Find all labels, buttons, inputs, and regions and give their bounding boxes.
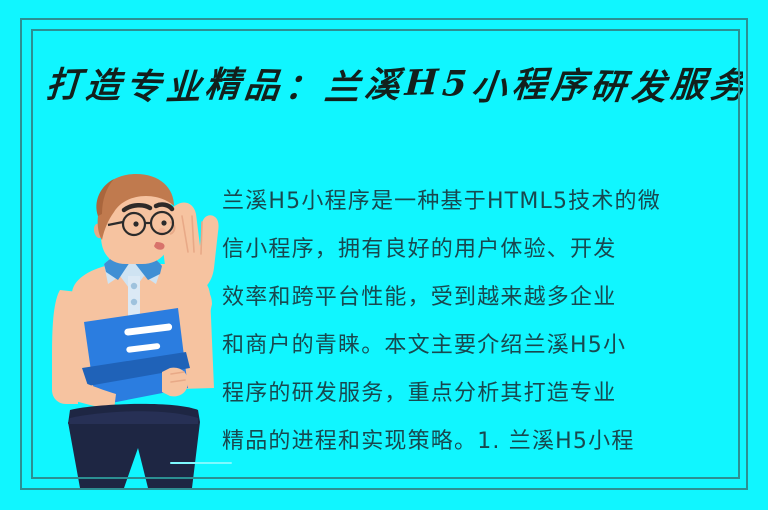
body-line: 兰溪H5小程序是一种基于HTML5技术的微 (222, 178, 743, 226)
page-title-char: 发 (629, 58, 667, 110)
body-line: 信小程序，拥有良好的用户体验、开发 (222, 226, 743, 274)
page-title-char: 小 (469, 58, 510, 110)
page-title-char: 专 (123, 57, 164, 109)
body-line: 程序的研发服务，重点分析其打造专业 (222, 370, 743, 418)
shirt-button-1 (131, 283, 137, 289)
page-title: 打造专业精品：兰溪H5小程序研发服务 (43, 52, 743, 114)
page-title-char: 业 (164, 58, 202, 110)
eye-front (161, 220, 166, 225)
page-title-char: 务 (708, 57, 743, 109)
body-line: 和商户的青睐。本文主要介绍兰溪H5小 (222, 322, 743, 370)
page-title-char: 打 (45, 56, 83, 108)
page-title-char: 程 (510, 56, 548, 108)
page-title-char: 序 (549, 57, 588, 108)
page-title-char: H (403, 62, 439, 104)
eye-back (133, 221, 138, 226)
shirt-button-2 (131, 299, 137, 305)
page-title-char: 造 (84, 57, 123, 108)
poster-canvas: 打造专业精品：兰溪H5小程序研发服务 兰溪H5小程序是一种基于HTML5技术的微… (0, 0, 768, 510)
body-line: 精品的进程和实现策略。1. 兰溪H5小程 (222, 418, 743, 466)
frame-clip-region: 打造专业精品：兰溪H5小程序研发服务 兰溪H5小程序是一种基于HTML5技术的微… (0, 0, 743, 510)
page-title-char: 溪 (362, 56, 403, 108)
page-title-char: 精 (203, 56, 242, 107)
pants (68, 422, 200, 488)
body-paragraph: 兰溪H5小程序是一种基于HTML5技术的微 信小程序，拥有良好的用户体验、开发 … (222, 178, 743, 466)
page-title-char: 服 (669, 56, 708, 107)
page-title-char: 研 (588, 57, 629, 109)
finger-line-3 (201, 222, 202, 254)
illustration-man-waving (52, 172, 238, 510)
page-title-char: 兰 (323, 59, 362, 110)
page-title-char: 5 (441, 63, 469, 104)
page-title-char: ： (283, 57, 321, 109)
page-title-char: 品 (242, 57, 283, 109)
body-line: 效率和跨平台性能，受到越来越多企业 (222, 274, 743, 322)
